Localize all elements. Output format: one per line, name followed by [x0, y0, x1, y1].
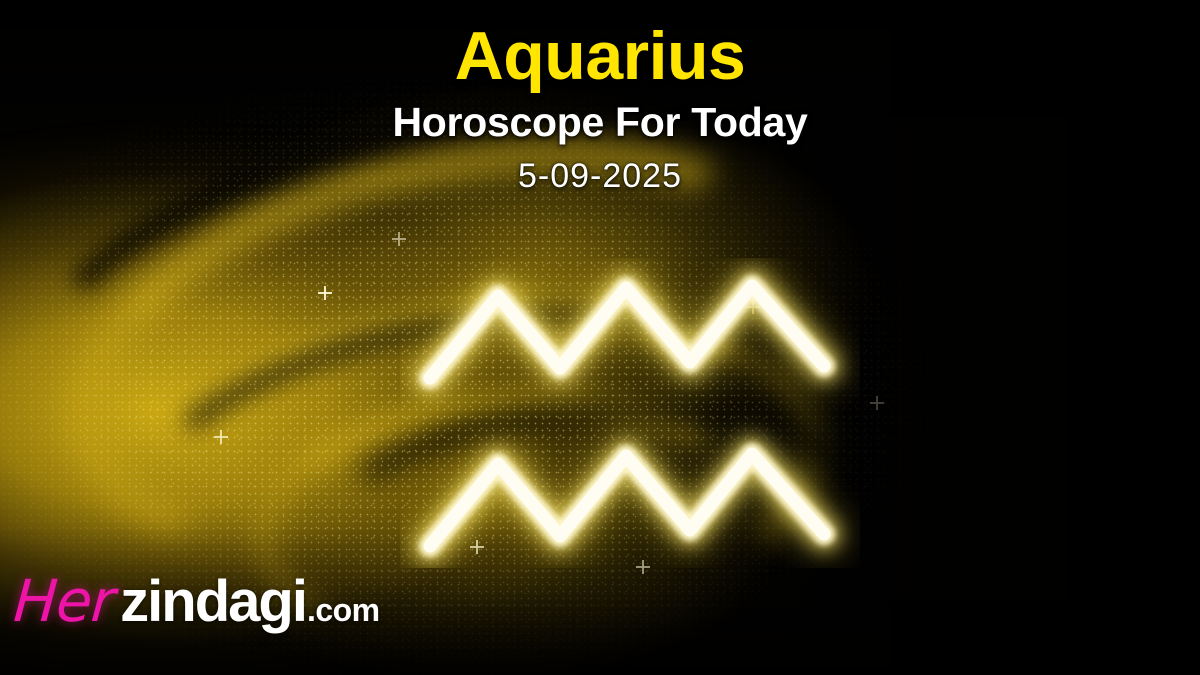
zodiac-sign-title: Aquarius	[0, 0, 1200, 90]
horoscope-date: 5-09-2025	[0, 143, 1200, 193]
card-header: Aquarius Horoscope For Today 5-09-2025	[0, 0, 1200, 193]
logo-zindagi-text: zindagi	[120, 573, 306, 631]
aquarius-zodiac-glyph-icon	[400, 258, 860, 568]
logo-dotcom-text: .com	[307, 594, 380, 626]
logo-her-text: Her	[12, 572, 116, 630]
horoscope-card: Aquarius Horoscope For Today 5-09-2025 H…	[0, 0, 1200, 675]
herzindagi-logo[interactable]: Her zindagi .com	[14, 572, 380, 631]
horoscope-subtitle: Horoscope For Today	[0, 90, 1200, 143]
